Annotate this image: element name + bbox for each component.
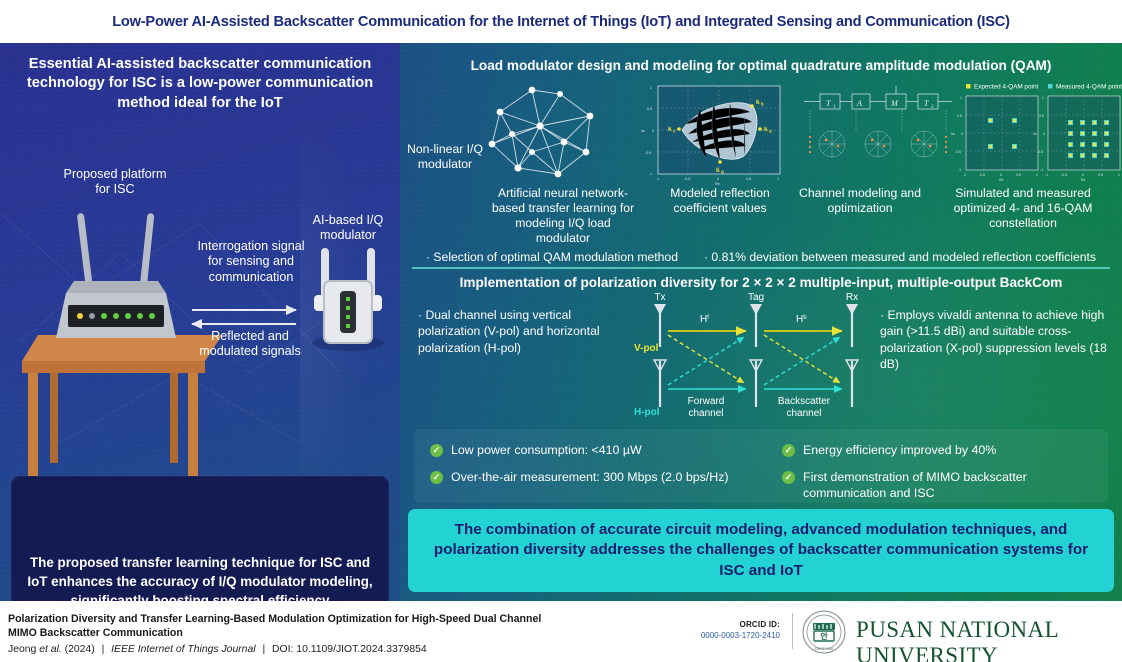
- mimo-section: Implementation of polarization diversity…: [400, 275, 1122, 420]
- arrow-reflected-signal: [192, 323, 296, 325]
- svg-text:0.5: 0.5: [1039, 114, 1044, 118]
- svg-text:-0.5: -0.5: [684, 177, 690, 181]
- svg-text:Expected 4-QAM point: Expected 4-QAM point: [974, 84, 1039, 91]
- svg-text:-0.5: -0.5: [955, 150, 961, 154]
- check-icon: ✓: [430, 444, 443, 457]
- svg-text:d: d: [721, 170, 724, 175]
- left-statement-text: The proposed transfer learning technique…: [21, 554, 379, 601]
- svg-text:0: 0: [1043, 132, 1045, 136]
- citation-etal: et al.: [39, 644, 62, 655]
- svg-text:안: 안: [820, 631, 828, 641]
- label-hb: Hb: [796, 314, 807, 325]
- svg-text:-0.5: -0.5: [1061, 173, 1067, 177]
- constellation-4qam: -1-0.50 0.51 10.50 -0.5-1 ReIm: [951, 96, 1038, 182]
- svg-text:0: 0: [652, 129, 654, 133]
- check-icon: ✓: [782, 444, 795, 457]
- citation-sep-1: |: [98, 644, 109, 655]
- svg-text:Re: Re: [1081, 178, 1085, 182]
- label-backscatter-channel-1: Backscatter: [778, 396, 831, 407]
- svg-text:1: 1: [1036, 173, 1038, 177]
- highlight-text: Over-the-air measurement: 300 Mbps (2.0 …: [451, 470, 729, 484]
- label-hpol: H-pol: [634, 407, 660, 418]
- svg-text:-0.5: -0.5: [645, 151, 651, 155]
- svg-text:k: k: [756, 99, 760, 106]
- caption-nonlinear-iq-modulator: Non-linear I/Q modulator: [406, 142, 484, 172]
- arrow-forward-signal: [192, 309, 296, 311]
- qam-bullet-list: · Selection of optimal QAM modulation me…: [400, 250, 1122, 264]
- svg-text:-1: -1: [649, 172, 652, 176]
- svg-text:0.5: 0.5: [1016, 173, 1021, 177]
- svg-text:A: A: [856, 99, 862, 108]
- mimo-bullet-left: · Dual channel using vertical polarizati…: [418, 307, 628, 356]
- pusan-national-university-logo: 안 SINCE 1946: [802, 610, 846, 654]
- svg-text:-0.5: -0.5: [1037, 150, 1043, 154]
- svg-text:Im: Im: [641, 129, 645, 133]
- citation-sep-2: |: [258, 644, 269, 655]
- check-icon: ✓: [782, 471, 795, 484]
- orcid-id: 0000-0003-1720-2410: [660, 631, 780, 640]
- highlight-text: First demonstration of MIMO backscatter …: [803, 470, 1027, 500]
- svg-text:1: 1: [960, 96, 962, 100]
- svg-text:k: k: [668, 126, 672, 133]
- svg-text:1: 1: [777, 177, 779, 181]
- citation-block: Polarization Diversity and Transfer Lear…: [8, 612, 568, 655]
- svg-text:-1: -1: [963, 173, 966, 177]
- highlights-box: ✓ Low power consumption: <410 µW ✓ Over-…: [414, 429, 1108, 503]
- section-divider: [412, 267, 1110, 269]
- polarization-diversity-diagram: Tx Tag Rx: [628, 289, 884, 419]
- left-panel: Essential AI-assisted backscatter commun…: [0, 43, 400, 601]
- highlight-text: Energy efficiency improved by 40%: [803, 443, 996, 457]
- label-vpol: V-pol: [634, 343, 659, 354]
- left-statement-box: The proposed transfer learning technique…: [11, 476, 389, 601]
- svg-text:-1: -1: [958, 168, 961, 172]
- constellation-16qam: -1-0.50 0.51 10.50 -0.5-1 ReIm: [1033, 96, 1120, 182]
- svg-text:-1: -1: [1040, 168, 1043, 172]
- highlight-item: ✓ First demonstration of MIMO backscatte…: [782, 470, 1082, 501]
- svg-text:-1: -1: [1045, 173, 1048, 177]
- label-forward-channel-2: channel: [688, 408, 723, 419]
- logo-since-text: SINCE 1946: [815, 647, 834, 651]
- svg-text:M: M: [890, 99, 899, 108]
- svg-text:1: 1: [833, 105, 836, 110]
- label-tag: Tag: [748, 292, 764, 303]
- footer: Polarization Diversity and Transfer Lear…: [0, 601, 1122, 662]
- label-proposed-platform: Proposed platform for ISC: [60, 167, 170, 198]
- neural-network-graphic: [492, 90, 590, 174]
- right-column: Load modulator design and modeling for o…: [400, 43, 1122, 601]
- conclusion-box: The combination of accurate circuit mode…: [408, 509, 1114, 592]
- qam-section-title: Load modulator design and modeling for o…: [400, 58, 1122, 73]
- citation-authors: Jeong: [8, 644, 36, 655]
- highlight-item: ✓ Low power consumption: <410 µW: [430, 443, 730, 459]
- orcid-label: ORCID ID:: [660, 620, 780, 629]
- caption-modeled-reflection: Modeled reflection coefficient values: [650, 186, 790, 216]
- svg-text:k: k: [716, 167, 720, 174]
- qam-section: Load modulator design and modeling for o…: [400, 52, 1122, 264]
- label-ai-based-iq-modulator: AI-based I/Q modulator: [296, 213, 400, 244]
- highlight-item: ✓ Energy efficiency improved by 40%: [782, 443, 1082, 459]
- label-rx: Rx: [846, 292, 858, 303]
- svg-text:1: 1: [1118, 173, 1120, 177]
- svg-text:1: 1: [650, 86, 652, 90]
- caption-constellation: Simulated and measured optimized 4- and …: [930, 186, 1116, 231]
- conclusion-text: The combination of accurate circuit mode…: [408, 520, 1114, 582]
- svg-text:T: T: [826, 99, 831, 108]
- svg-text:0: 0: [717, 177, 719, 181]
- mimo-section-title: Implementation of polarization diversity…: [400, 275, 1122, 290]
- svg-text:Measured 4-QAM point: Measured 4-QAM point: [1056, 84, 1122, 91]
- svg-text:Im: Im: [951, 132, 955, 136]
- graphical-abstract-page: Low-Power AI-Assisted Backscatter Commun…: [0, 0, 1122, 662]
- svg-text:0.5: 0.5: [1098, 173, 1103, 177]
- citation-meta: Jeong et al. (2024) | IEEE Internet of T…: [8, 644, 568, 655]
- qam-bullet-1: · 0.81% deviation between measured and m…: [704, 250, 1096, 264]
- highlight-item: ✓ Over-the-air measurement: 300 Mbps (2.…: [430, 470, 760, 486]
- mimo-bullet-right: · Employs vivaldi antenna to achieve hig…: [880, 307, 1112, 372]
- constellation-legend: Expected 4-QAM point Measured 4-QAM poin…: [966, 84, 1122, 91]
- highlight-text: Low power consumption: <410 µW: [451, 443, 642, 457]
- svg-text:Im: Im: [1033, 132, 1037, 136]
- caption-ann-transfer-learning: Artificial neural network-based transfer…: [488, 186, 638, 247]
- svg-text:0: 0: [961, 132, 963, 136]
- qam-figures: kb ka kc kd -1-0.50 0.51 10.50 -0.5-1 Re…: [400, 82, 1122, 187]
- reflection-coefficient-plot: kb ka kc kd -1-0.50 0.51 10.50 -0.5-1 Re…: [641, 86, 780, 186]
- label-reflected-signals: Reflected and modulated signals: [192, 329, 308, 360]
- orcid-block: ORCID ID: 0000-0003-1720-2410: [660, 620, 780, 640]
- label-tx: Tx: [654, 292, 665, 303]
- paper-title: Polarization Diversity and Transfer Lear…: [8, 612, 568, 640]
- citation-year: (2024): [65, 644, 95, 655]
- page-title: Low-Power AI-Assisted Backscatter Commun…: [112, 14, 1010, 30]
- label-backscatter-channel-2: channel: [786, 408, 821, 419]
- svg-text:0: 0: [1082, 173, 1084, 177]
- svg-text:0.5: 0.5: [746, 177, 751, 181]
- svg-text:Re: Re: [999, 178, 1003, 182]
- footer-divider: [792, 613, 793, 649]
- qam-bullet-0: · Selection of optimal QAM modulation me…: [426, 250, 678, 264]
- svg-text:k: k: [764, 126, 768, 133]
- citation-doi: DOI: 10.1109/JIOT.2024.3379854: [272, 644, 427, 655]
- svg-text:0: 0: [1000, 173, 1002, 177]
- label-interrogation-signal: Interrogation signal for sensing and com…: [190, 239, 312, 285]
- caption-channel-modeling: Channel modeling and optimization: [796, 186, 924, 216]
- label-hf: Hf: [700, 314, 709, 325]
- audio-waveform-graphic: [11, 492, 389, 540]
- svg-text:-1: -1: [656, 177, 659, 181]
- svg-text:-0.5: -0.5: [979, 173, 985, 177]
- label-forward-channel-1: Forward: [688, 396, 725, 407]
- university-name: PUSAN NATIONAL UNIVERSITY: [856, 617, 1122, 662]
- citation-journal: IEEE Internet of Things Journal: [111, 644, 255, 655]
- svg-text:T: T: [924, 99, 929, 108]
- svg-text:0.5: 0.5: [957, 114, 962, 118]
- svg-text:b: b: [761, 102, 764, 107]
- svg-text:1: 1: [1042, 96, 1044, 100]
- svg-text:0.5: 0.5: [647, 107, 652, 111]
- check-icon: ✓: [430, 471, 443, 484]
- page-title-bar: Low-Power AI-Assisted Backscatter Commun…: [0, 0, 1122, 43]
